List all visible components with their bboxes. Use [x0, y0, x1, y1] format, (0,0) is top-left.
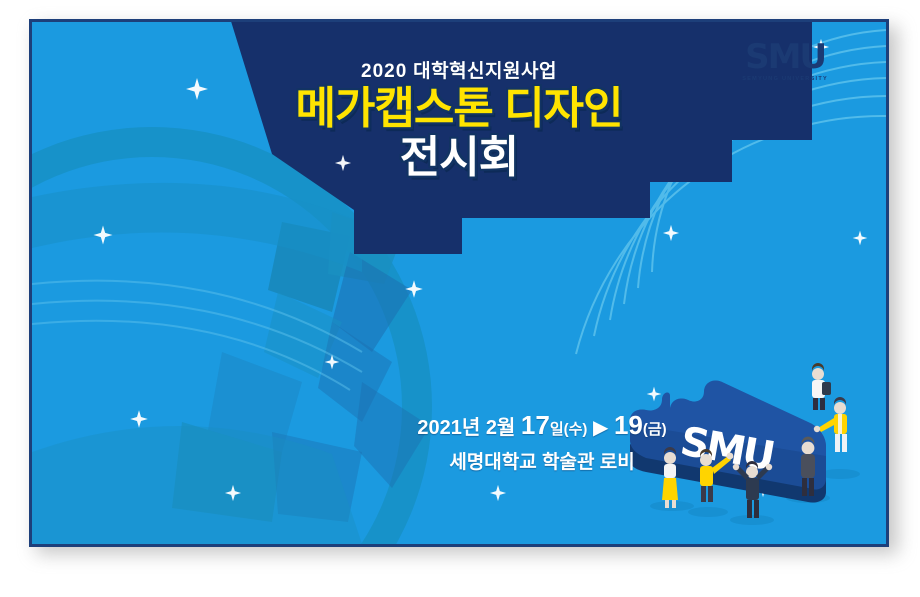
poster-kicker-year: 2020 — [361, 61, 407, 82]
person-figure — [812, 363, 831, 410]
poster-info-block: 2021년 2월 17일(수) ▶ 19(금) 세명대학교 학술관 로비 — [392, 410, 692, 474]
poster-headline-line2: 전시회 — [32, 135, 886, 181]
sparkle-icon — [222, 482, 244, 504]
date-range-arrow-icon: ▶ — [593, 417, 608, 439]
poster-frame: SMU SEMYUNG UNIVERSITY 2020 대학혁신지원사업 메가캡… — [29, 19, 889, 547]
date-end-day: 19 — [614, 410, 643, 440]
smu-logo-mark: SMU — [742, 40, 828, 74]
date-start-suffix: 일(수) — [550, 421, 588, 438]
sparkle-icon — [850, 228, 870, 248]
sparkle-icon — [402, 277, 426, 301]
poster-kicker-text: 대학혁신지원사업 — [413, 61, 557, 82]
poster-headline-line1: 메가캡스톤 디자인 — [32, 87, 886, 132]
date-start-day: 17 — [521, 410, 550, 440]
date-year: 2021년 — [417, 417, 480, 439]
sparkle-icon — [90, 222, 116, 248]
date-month: 2월 — [486, 417, 516, 439]
screenshot-canvas: SMU SEMYUNG UNIVERSITY 2020 대학혁신지원사업 메가캡… — [0, 0, 920, 597]
smu-logo-subtitle: SEMYUNG UNIVERSITY — [742, 76, 828, 82]
poster-date: 2021년 2월 17일(수) ▶ 19(금) — [392, 410, 692, 441]
smu-logo: SMU SEMYUNG UNIVERSITY — [742, 40, 828, 82]
date-end-suffix: (금) — [643, 421, 667, 438]
poster-artboard: SMU SEMYUNG UNIVERSITY 2020 대학혁신지원사업 메가캡… — [32, 22, 886, 544]
sparkle-icon — [127, 407, 151, 431]
sparkle-icon — [322, 352, 342, 372]
poster-venue: 세명대학교 학술관 로비 — [392, 447, 692, 474]
sparkle-icon — [660, 222, 682, 244]
figure-shadow — [688, 507, 728, 517]
sparkle-icon — [487, 482, 509, 504]
